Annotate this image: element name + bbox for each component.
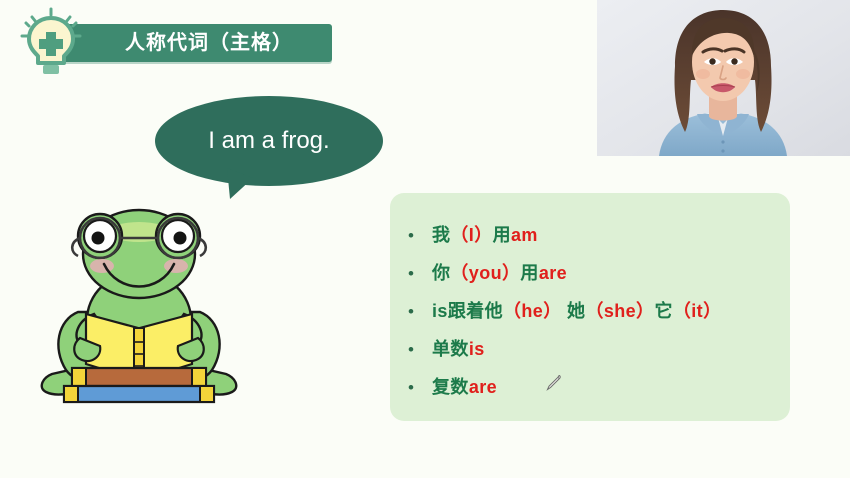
rule-text-segment: 单数 xyxy=(432,339,469,359)
rule-text-segment: 跟着他 xyxy=(448,301,503,321)
bullet-dot-icon: • xyxy=(408,341,432,358)
rule-text-segment: （I） xyxy=(450,225,492,245)
pen-cursor-icon xyxy=(544,373,564,393)
presenter-video-feed xyxy=(597,0,850,156)
rule-text: 复数are xyxy=(432,373,497,399)
grammar-rules-list: •我（I）用am•你（you）用are•is跟着他（he） 她（she）它（it… xyxy=(390,193,790,421)
rule-text-segment: 用 xyxy=(520,263,538,283)
speech-bubble: I am a frog. xyxy=(155,96,383,200)
rule-text-segment: （it） xyxy=(673,301,722,321)
rule-text-segment: are xyxy=(539,263,567,283)
rule-text-segment: （you） xyxy=(450,263,520,283)
lightbulb-plus-icon xyxy=(16,6,86,78)
rule-text-segment: is xyxy=(432,301,448,321)
rule-row: •复数are xyxy=(408,373,790,411)
grammar-rules-card: •我（I）用am•你（you）用are•is跟着他（he） 她（she）它（it… xyxy=(390,193,790,421)
bullet-dot-icon: • xyxy=(408,265,432,282)
page-title: 人称代词（主格） xyxy=(60,24,332,62)
rule-text: 单数is xyxy=(432,335,485,361)
rule-row: •单数is xyxy=(408,335,790,373)
bullet-dot-icon: • xyxy=(408,227,432,244)
rule-row: •你（you）用are xyxy=(408,259,790,297)
frog-reading-book-illustration xyxy=(34,192,244,404)
rule-text-segment: 你 xyxy=(432,263,450,283)
rule-row: •is跟着他（he） 她（she）它（it） xyxy=(408,297,790,335)
bullet-dot-icon: • xyxy=(408,303,432,320)
rule-text: 我（I）用am xyxy=(432,221,538,247)
bullet-dot-icon: • xyxy=(408,379,432,396)
rule-row: •我（I）用am xyxy=(408,221,790,259)
rule-text-segment: （she） xyxy=(585,301,654,321)
rule-text-segment: 它 xyxy=(654,301,672,321)
speech-bubble-shape xyxy=(155,96,383,200)
rule-text: 你（you）用are xyxy=(432,259,567,285)
rule-text-segment: （he） xyxy=(503,301,562,321)
rule-text-segment: 她 xyxy=(562,301,586,321)
presenter-video-panel[interactable] xyxy=(597,0,850,156)
rule-text-segment: is xyxy=(469,339,485,359)
rule-text-segment: 用 xyxy=(493,225,511,245)
rule-text-segment: 我 xyxy=(432,225,450,245)
title-banner: 人称代词（主格） xyxy=(60,24,332,62)
rule-text-segment: are xyxy=(469,377,497,397)
rule-text-segment: am xyxy=(511,225,538,245)
lesson-slide: 人称代词（主格） I am a frog. xyxy=(0,0,850,478)
rule-text: is跟着他（he） 她（she）它（it） xyxy=(432,297,721,323)
rule-text-segment: 复数 xyxy=(432,377,469,397)
